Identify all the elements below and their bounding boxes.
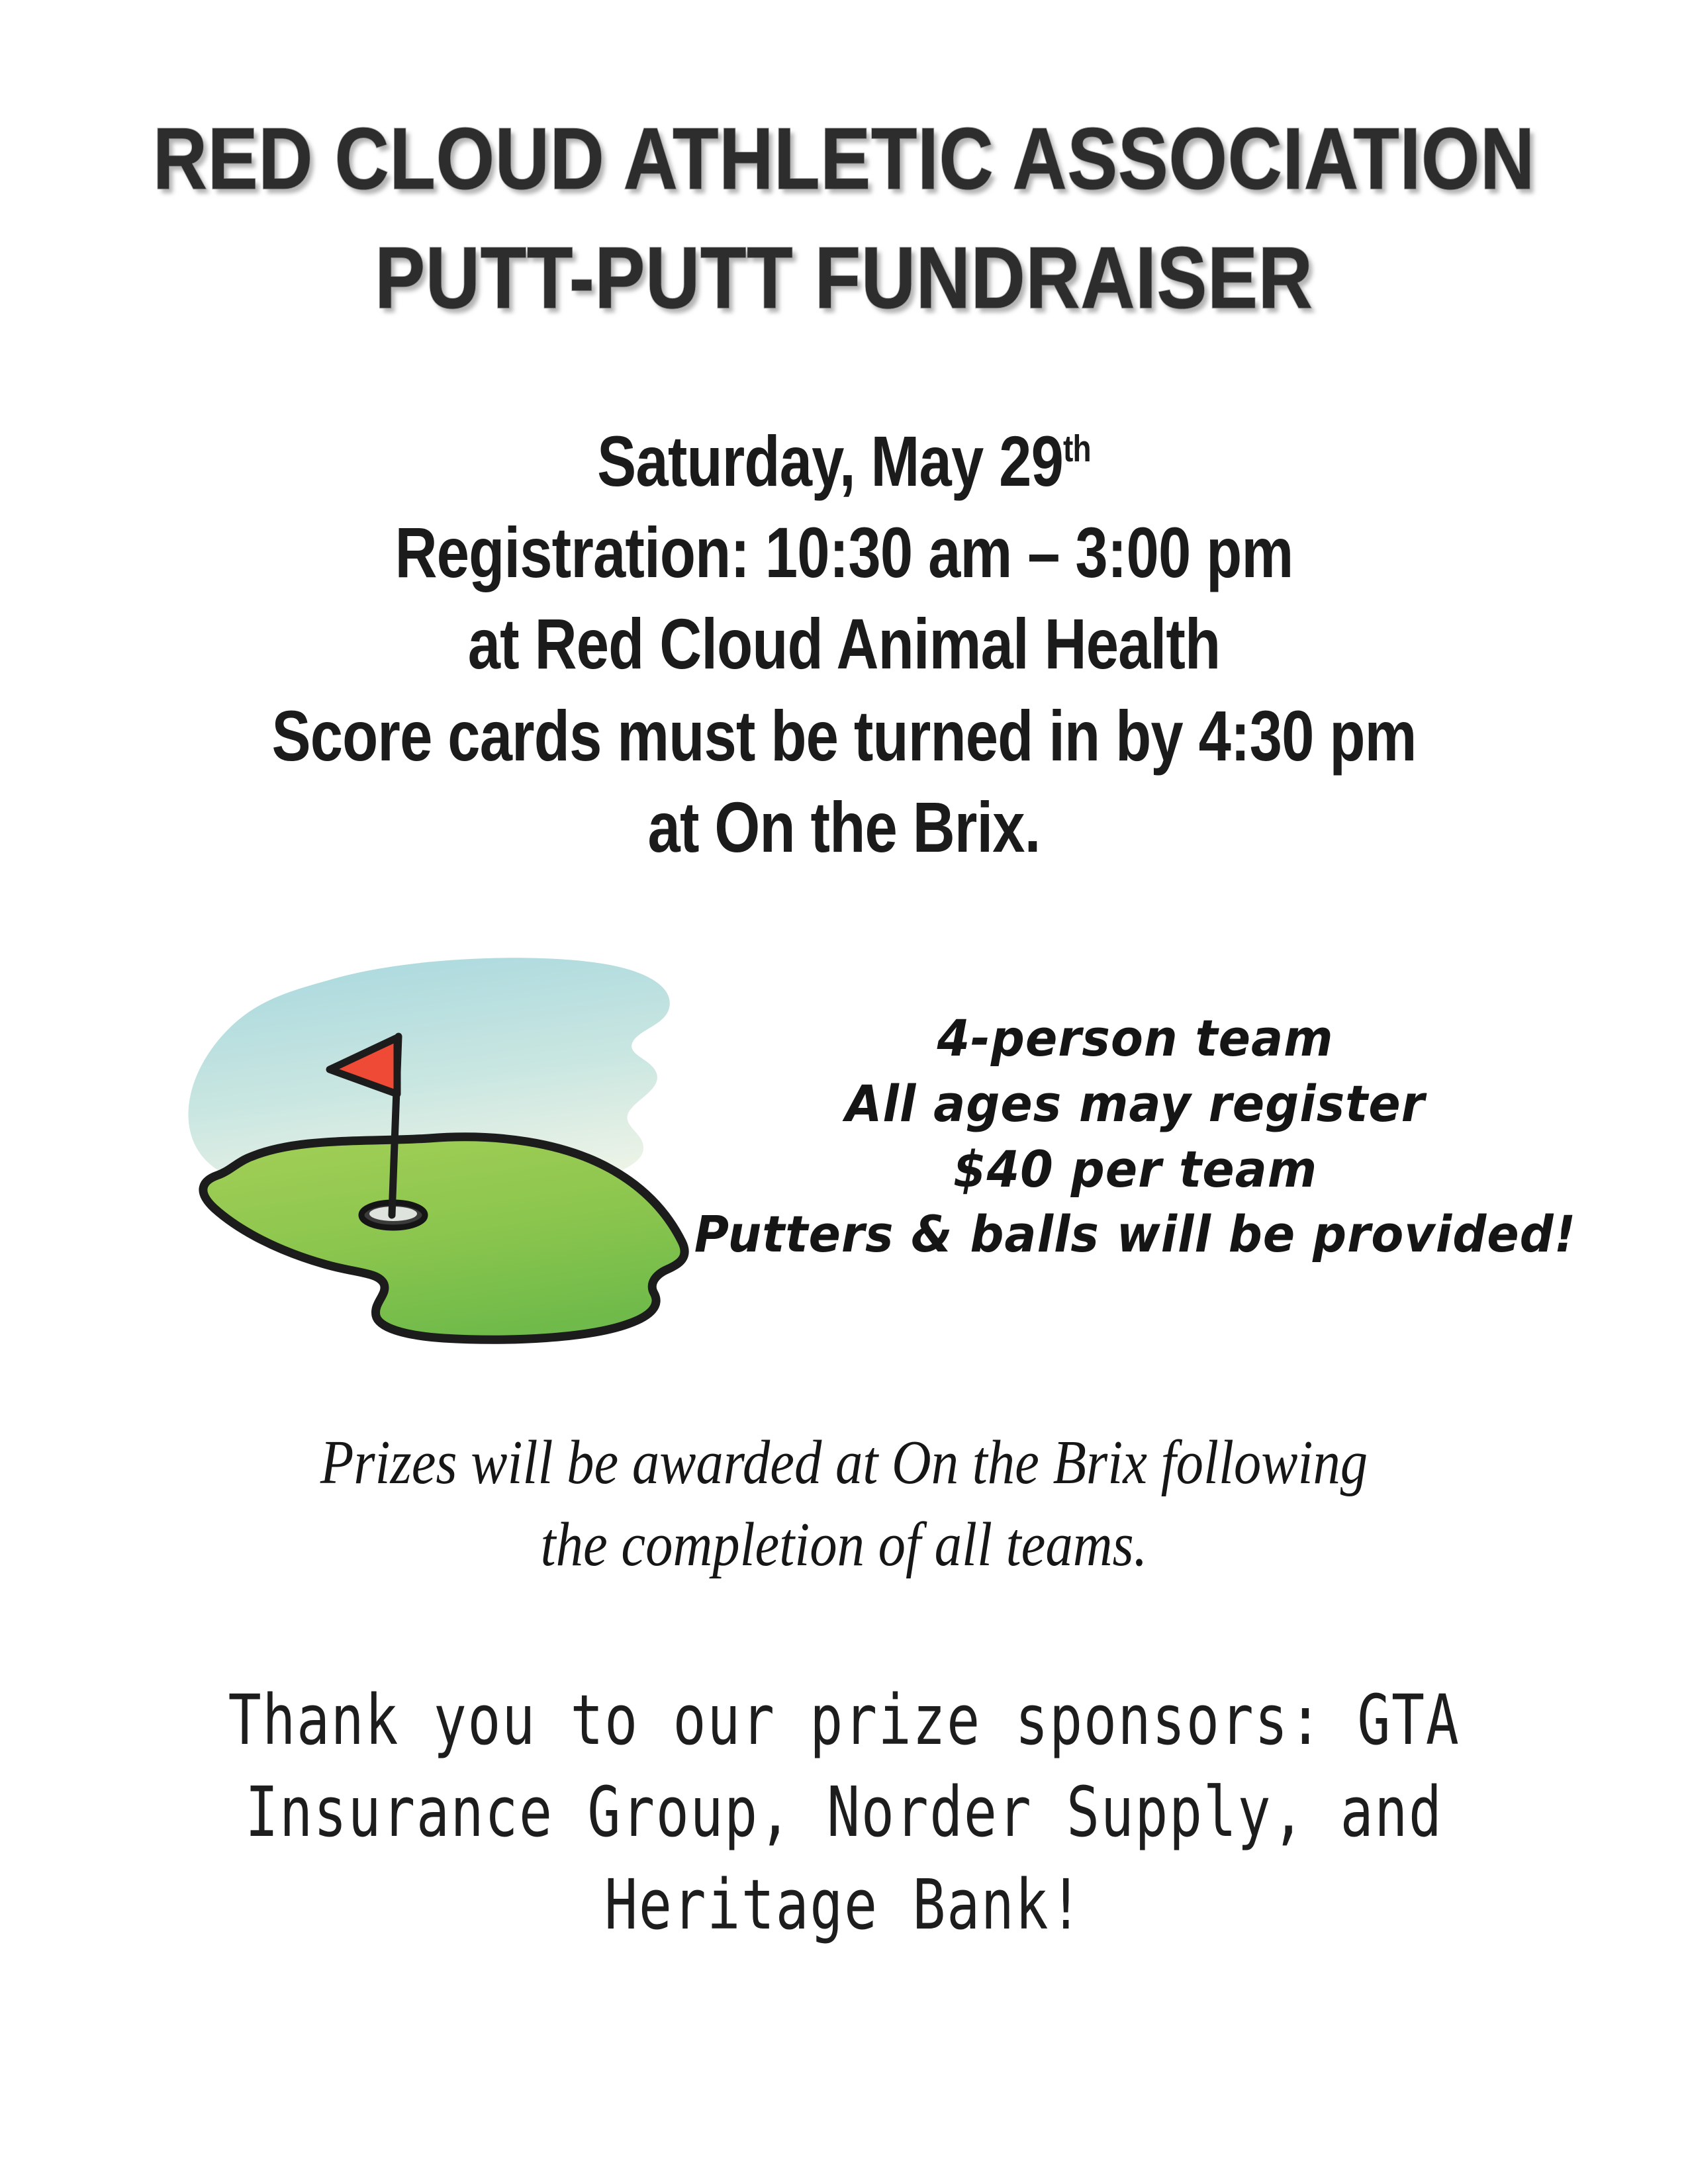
- term-team-size: 4-person team: [690, 1006, 1580, 1071]
- event-details-block: Saturday, May 29th Registration: 10:30 a…: [0, 416, 1688, 873]
- prizes-block: Prizes will be awarded at On the Brix fo…: [0, 1422, 1688, 1586]
- registration-location: at Red Cloud Animal Health: [152, 598, 1536, 690]
- flyer-page: RED CLOUD ATHLETIC ASSOCIATION RED CLOUD…: [0, 0, 1688, 2184]
- event-date-text: Saturday, May 29: [597, 421, 1063, 501]
- sponsors-block: Thank you to our prize sponsors: GTA Ins…: [0, 1674, 1688, 1951]
- sponsors-line-3: Heritage Bank!: [169, 1859, 1519, 1951]
- registration-times: Registration: 10:30 am – 3:00 pm: [152, 507, 1536, 598]
- golf-green-svg: [165, 953, 708, 1350]
- middle-row: 4-person team All ages may register $40 …: [0, 940, 1688, 1363]
- putting-green-shape: [203, 1137, 684, 1340]
- event-date: Saturday, May 29th: [152, 416, 1536, 507]
- prizes-line-2: the completion of all teams.: [101, 1504, 1587, 1586]
- sponsors-line-1: Thank you to our prize sponsors: GTA: [169, 1674, 1519, 1766]
- scorecard-deadline: Score cards must be turned in by 4:30 pm: [152, 690, 1536, 782]
- term-entry-fee: $40 per team: [690, 1137, 1580, 1203]
- prizes-line-1: Prizes will be awarded at On the Brix fo…: [101, 1422, 1587, 1504]
- title-block: RED CLOUD ATHLETIC ASSOCIATION RED CLOUD…: [0, 99, 1688, 337]
- title-line-2-text: PUTT-PUTT FUNDRAISER: [375, 229, 1313, 326]
- title-line-1-text: RED CLOUD ATHLETIC ASSOCIATION: [153, 110, 1535, 207]
- term-eligibility: All ages may register: [690, 1071, 1580, 1137]
- event-date-ordinal: th: [1063, 428, 1091, 469]
- terms-block: 4-person team All ages may register $40 …: [662, 1006, 1609, 1267]
- scorecard-location: at On the Brix.: [152, 782, 1536, 873]
- golf-green-clipart: [165, 953, 708, 1350]
- term-equipment: Putters & balls will be provided!: [690, 1202, 1580, 1267]
- title-line-2: PUTT-PUTT FUNDRAISER PUTT-PUTT FUNDRAISE…: [118, 218, 1570, 338]
- title-line-1: RED CLOUD ATHLETIC ASSOCIATION RED CLOUD…: [118, 99, 1570, 218]
- sponsors-line-2: Insurance Group, Norder Supply, and: [169, 1766, 1519, 1858]
